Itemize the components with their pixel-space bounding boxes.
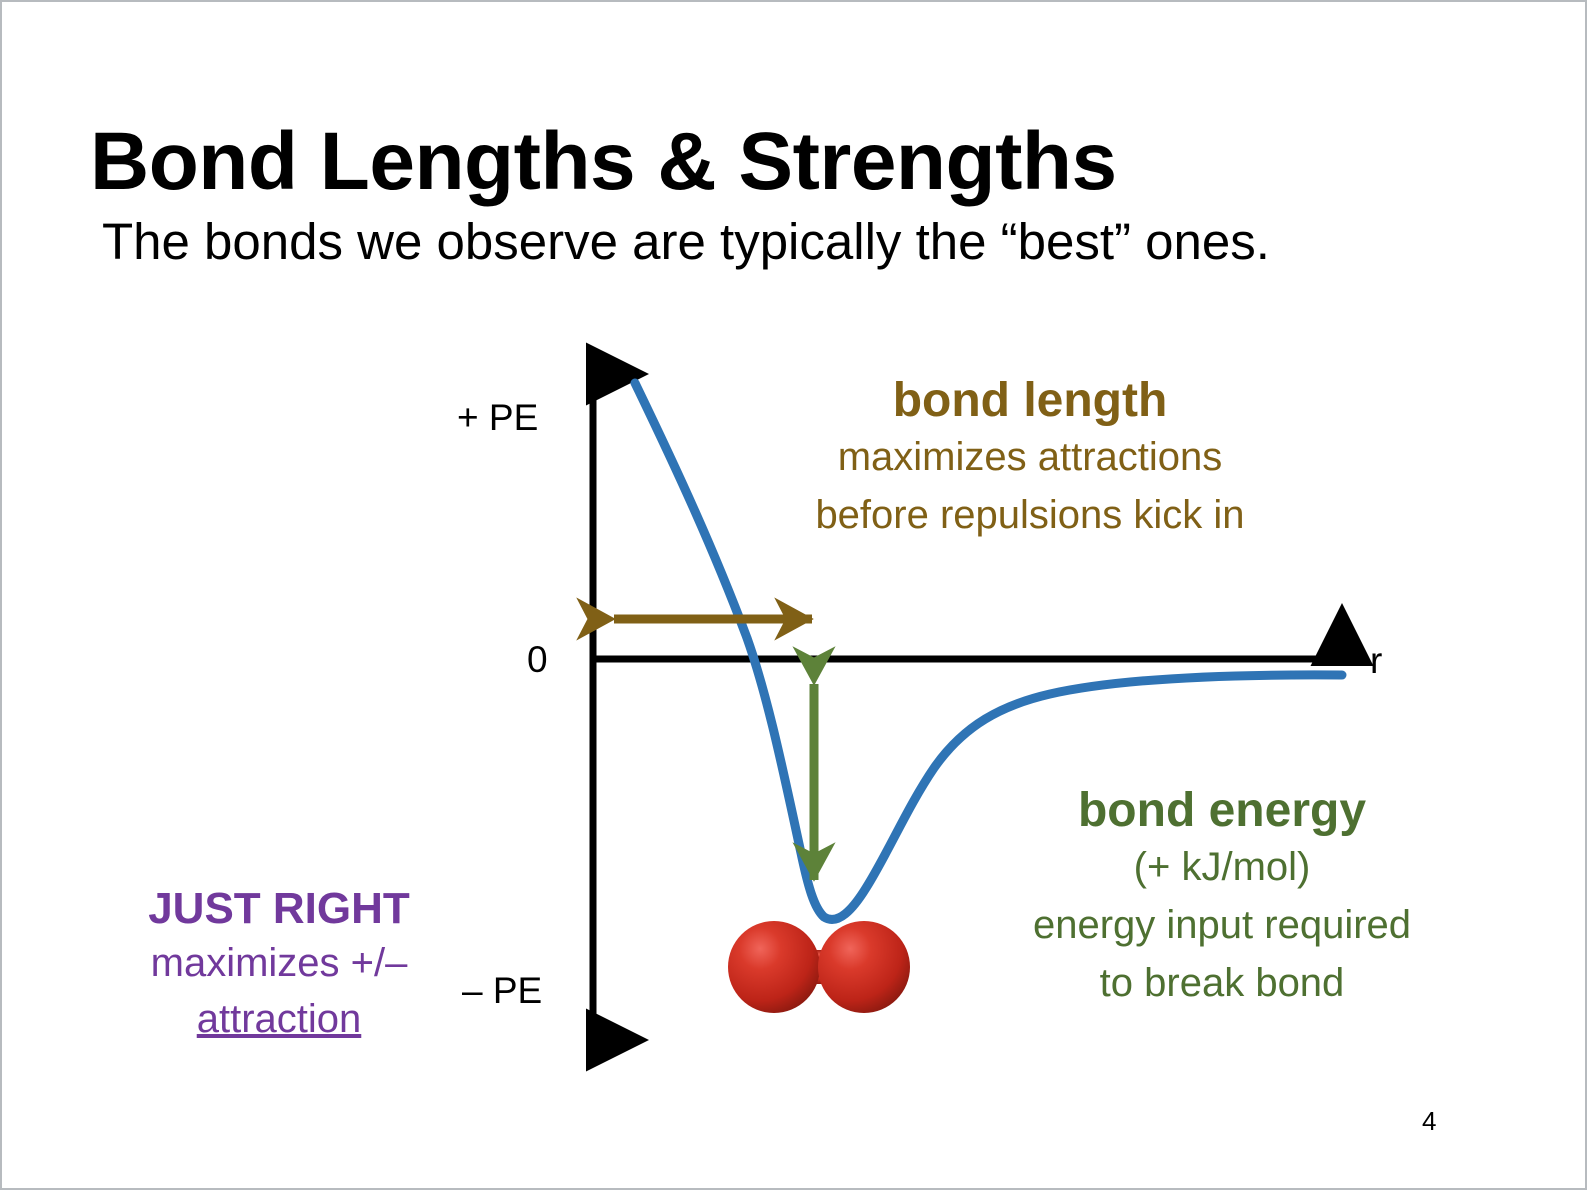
annotation-just-right: JUST RIGHT maximizes +/– attraction	[74, 884, 484, 1048]
annotation-just-right-line1: maximizes +/–	[74, 935, 484, 992]
annotation-just-right-heading: JUST RIGHT	[74, 884, 484, 935]
annotation-bond-energy-line1: (+ kJ/mol)	[952, 838, 1492, 896]
annotation-bond-length: bond length maximizes attractions before…	[746, 374, 1314, 544]
annotation-bond-energy: bond energy (+ kJ/mol) energy input requ…	[952, 784, 1492, 1012]
x-axis-label: r	[1370, 640, 1382, 682]
annotation-bond-energy-heading: bond energy	[952, 784, 1492, 838]
annotation-bond-energy-line2: energy input required	[952, 896, 1492, 954]
annotation-bond-length-line2: before repulsions kick in	[746, 486, 1314, 544]
annotation-bond-length-heading: bond length	[746, 374, 1314, 428]
origin-label: 0	[527, 639, 548, 681]
diatomic-molecule-double-bond-icon	[728, 921, 910, 1013]
annotation-bond-length-line1: maximizes attractions	[746, 428, 1314, 486]
slide-number: 4	[1422, 1106, 1436, 1137]
annotation-just-right-line2: attraction	[74, 991, 484, 1048]
y-axis-top-label: + PE	[457, 397, 538, 439]
annotation-bond-energy-line3: to break bond	[952, 954, 1492, 1012]
slide: Bond Lengths & Strengths The bonds we ob…	[0, 0, 1587, 1190]
